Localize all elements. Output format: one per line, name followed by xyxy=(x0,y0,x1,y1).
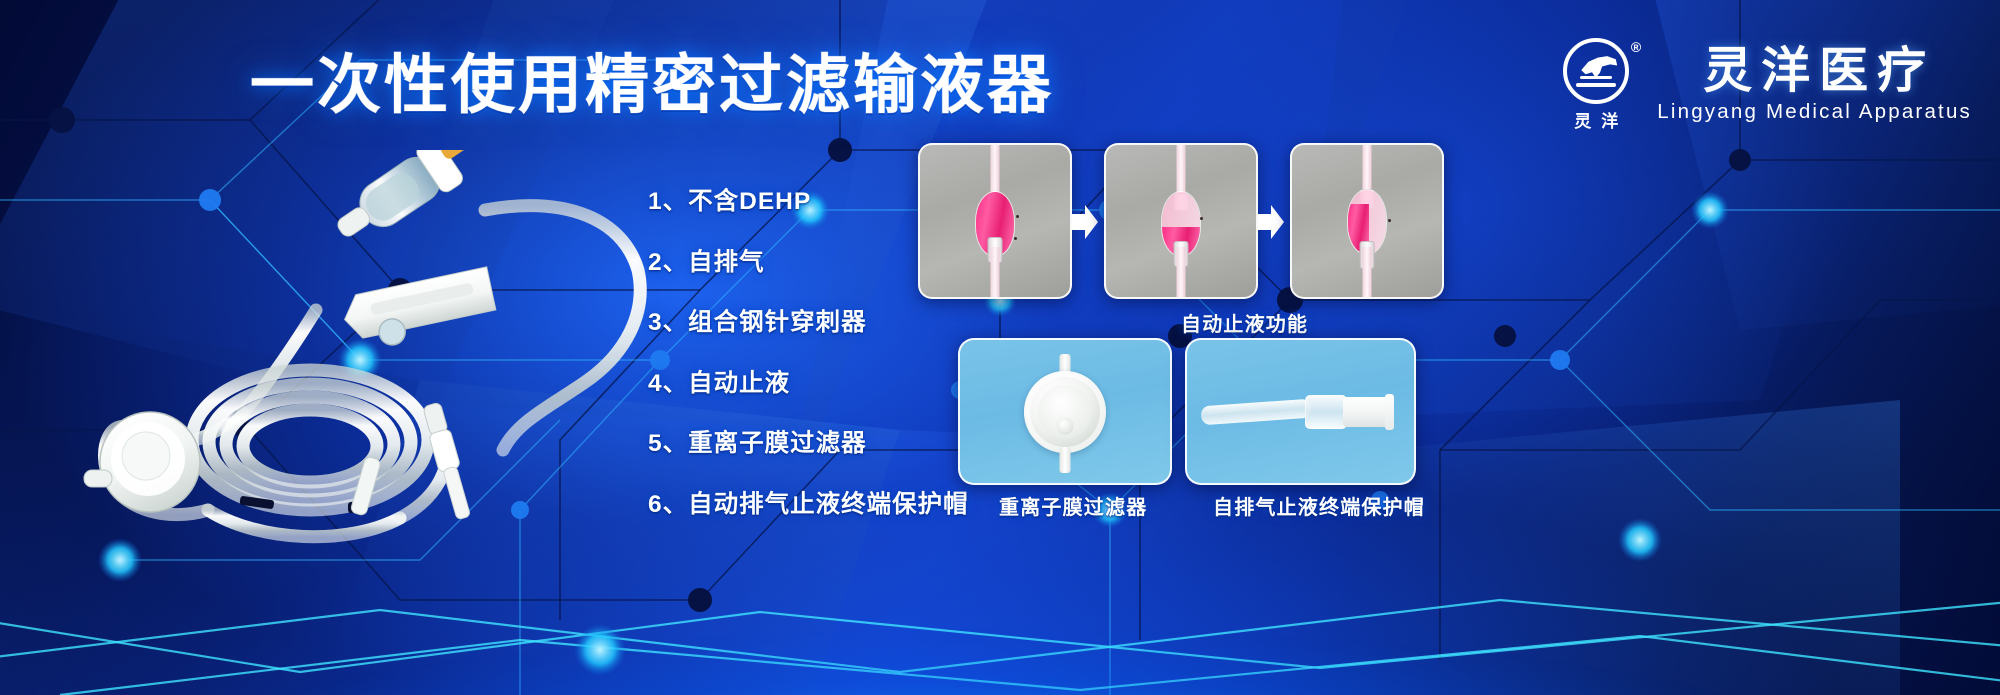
company-emblem-icon xyxy=(1563,38,1629,104)
filter-outlet-hub xyxy=(1057,418,1074,435)
cap-end-ring xyxy=(1385,394,1394,430)
page-title: 一次性使用精密过滤输液器 xyxy=(250,46,1040,124)
filter-outlet-port xyxy=(1060,447,1071,473)
product-photo xyxy=(48,150,658,550)
emblem-wave-upper xyxy=(1580,76,1612,79)
feature-item-5: 5、重离子膜过滤器 xyxy=(648,414,958,475)
sequence-photo-1 xyxy=(918,143,1072,299)
feature-item-3: 3、组合钢针穿刺器 xyxy=(648,293,958,354)
filter-body xyxy=(1024,371,1106,453)
cap-clear-hub xyxy=(1305,395,1347,429)
emblem-wave-lower xyxy=(1576,83,1616,87)
brand-name-cn: 灵洋医疗 xyxy=(1694,46,1935,98)
brand-emblem-wrap: ® 灵洋 xyxy=(1553,38,1639,132)
speck-marker xyxy=(1388,219,1391,222)
cap-tubing xyxy=(1200,398,1311,425)
feature-item-1: 1、不含DEHP xyxy=(648,172,958,233)
speck-marker xyxy=(1200,217,1203,220)
tube-lower xyxy=(1177,247,1186,297)
banner-root: 一次性使用精密过滤输液器 ® 灵洋 灵洋医疗 Lingyang Medical … xyxy=(0,0,2000,695)
tube-lower xyxy=(1363,247,1372,297)
brand-text: 灵洋医疗 Lingyang Medical Apparatus xyxy=(1657,46,1972,125)
feature-item-4: 4、自动止液 xyxy=(648,354,958,415)
cap-white-body xyxy=(1343,397,1389,427)
speck-marker xyxy=(1014,237,1017,240)
registered-mark-icon: ® xyxy=(1631,40,1641,54)
emblem-label: 灵洋 xyxy=(1564,107,1628,132)
brand-name-en: Lingyang Medical Apparatus xyxy=(1657,100,1972,124)
feature-list: 1、不含DEHP 2、自排气 3、组合钢针穿刺器 4、自动止液 5、重离子膜过滤… xyxy=(648,172,958,535)
tube-lower xyxy=(991,247,1000,297)
feature-item-2: 2、自排气 xyxy=(648,233,958,294)
caption-filter: 重离子膜过滤器 xyxy=(999,491,1147,520)
sequence-arrow-icon xyxy=(1258,205,1284,239)
sequence-photo-3 xyxy=(1290,143,1444,299)
sequence-arrow-icon xyxy=(1072,205,1098,239)
feature-item-6: 6、自动排气止液终端保护帽 xyxy=(648,475,958,536)
caption-cap: 自排气止液终端保护帽 xyxy=(1213,491,1425,520)
gallery-photo-cap xyxy=(1185,338,1416,485)
brand-logo: ® 灵洋 灵洋医疗 Lingyang Medical Apparatus xyxy=(1553,38,1972,132)
speck-marker xyxy=(1016,215,1019,218)
gallery-photo-filter xyxy=(958,338,1172,485)
caption-auto-stop: 自动止液功能 xyxy=(1181,308,1308,337)
sequence-photo-2 xyxy=(1104,143,1258,299)
